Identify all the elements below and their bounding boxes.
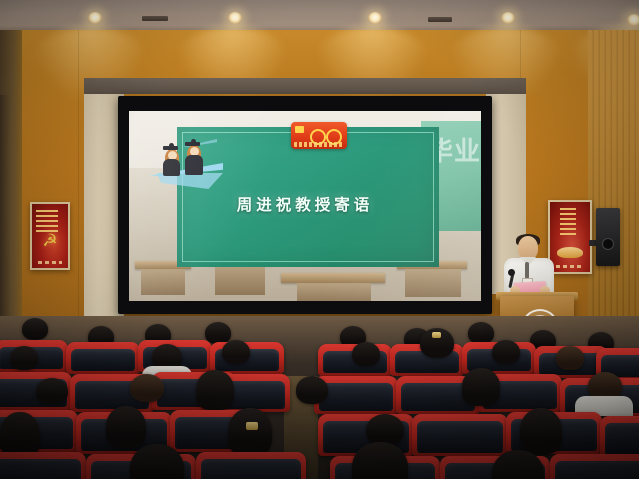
classroom-desk [297, 283, 371, 301]
hair-clip [432, 332, 441, 338]
air-vent-left [142, 16, 168, 21]
golden-landmark-icon [557, 247, 583, 258]
downlight-1 [88, 12, 102, 24]
audience-head [228, 408, 272, 456]
audience-head [296, 376, 328, 404]
poster-title-lines [560, 208, 576, 238]
audience-head [556, 346, 584, 370]
graduates-illustration [149, 133, 241, 195]
right-panel-shading [588, 30, 639, 340]
audience-head [492, 340, 520, 364]
auditorium-seat [66, 342, 140, 374]
logo-subtitle-bar [294, 142, 344, 147]
poster-footer-text [556, 265, 584, 268]
classroom-desk [215, 265, 265, 295]
logo-flag-icon [295, 126, 304, 133]
presenter-lanyard [525, 262, 529, 279]
audience-seating [0, 316, 639, 479]
classroom-desk [281, 273, 385, 283]
hair-clip [246, 422, 258, 430]
audience-head [36, 378, 68, 404]
audience-head [196, 370, 234, 410]
audience-head [10, 346, 38, 370]
poster-footer-text [38, 261, 62, 264]
downlight-5 [627, 14, 639, 26]
audience-head [366, 414, 404, 446]
audience-head [106, 406, 146, 448]
speaker-cone-icon [602, 238, 614, 250]
downlight-2 [228, 12, 242, 24]
graduation-cap-icon [191, 139, 196, 144]
wall-speaker [596, 208, 620, 266]
presenter-head [518, 236, 538, 260]
classroom-desk [405, 269, 461, 297]
auditorium-seat [600, 416, 639, 458]
audience-head [468, 322, 494, 344]
microphone-icon [508, 269, 515, 276]
audience-head [205, 322, 231, 344]
auditorium-seat [196, 452, 306, 479]
auditorium-seat [0, 452, 86, 479]
audience-head [222, 340, 250, 364]
cpc-centennial-logo [291, 122, 347, 149]
classroom-desk [141, 269, 185, 295]
auditorium-photo: 毕业 [0, 0, 639, 479]
downlight-4 [501, 12, 515, 24]
screen-soffit [96, 78, 516, 94]
audience-head [22, 318, 48, 340]
poster-left: ☭ [30, 202, 70, 270]
auditorium-seat [412, 414, 508, 456]
air-vent-right [428, 17, 452, 22]
audience-head [462, 368, 500, 406]
projection-screen: 毕业 [129, 111, 481, 301]
audience-head [130, 374, 164, 402]
hammer-sickle-icon: ☭ [39, 230, 61, 252]
graduate-gown [185, 155, 203, 175]
left-side-wall-shadow [0, 95, 12, 340]
downlight-3 [368, 12, 382, 24]
audience-head [520, 408, 562, 454]
auditorium-seat [550, 454, 639, 479]
audience-head [352, 342, 380, 366]
slide-title: 周进祝教授寄语 [129, 193, 481, 215]
graduate-gown [163, 159, 180, 176]
slide-background-photo: 毕业 [129, 111, 481, 301]
graduation-cap-icon [169, 143, 174, 148]
poster-title-lines [36, 210, 58, 232]
